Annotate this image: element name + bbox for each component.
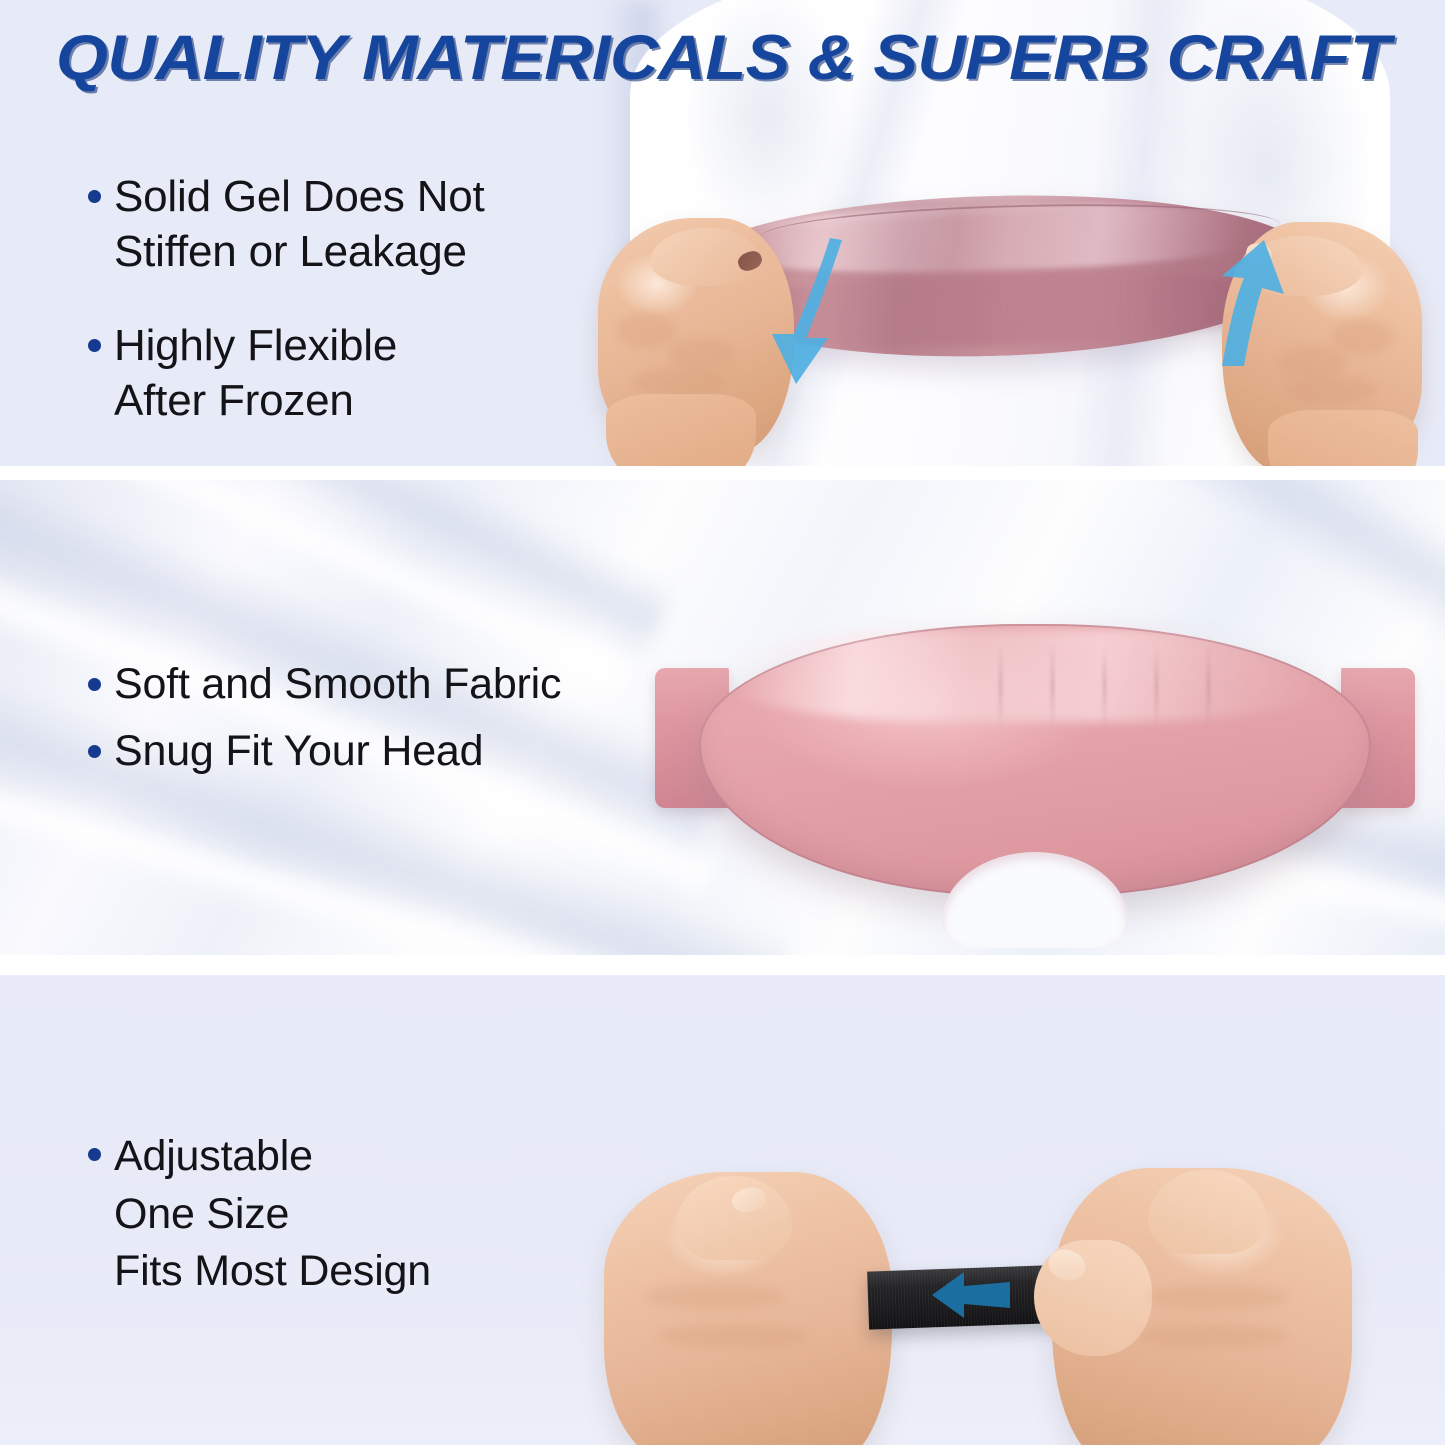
page-title: QUALITY MATERICALS & SUPERB CRAFT: [56, 22, 1445, 94]
bullet-dot-icon: [88, 1148, 101, 1161]
list-item: Snug Fit Your Head: [88, 725, 561, 778]
right-hand-holding-strap: [1052, 1168, 1352, 1445]
right-index-finger: [1148, 1170, 1266, 1254]
list-item: Solid Gel Does Not Stiffen or Leakage: [88, 170, 485, 279]
right-wrist: [1268, 410, 1418, 466]
hand-crease: [1138, 1324, 1288, 1348]
bullet-dot-icon: [88, 339, 101, 352]
bullet-dot-icon: [88, 678, 101, 691]
hand-crease: [644, 1284, 784, 1310]
panel-divider: [0, 955, 1445, 975]
bullet-list-fabric: Soft and Smooth Fabric Snug Fit Your Hea…: [88, 658, 561, 779]
list-item: Highly Flexible After Frozen: [88, 319, 485, 428]
hand-crease: [1148, 1284, 1288, 1310]
bullet-text: Snug Fit Your Head: [114, 725, 483, 778]
knuckle-crease: [634, 368, 726, 396]
bullet-text: Highly Flexible After Frozen: [114, 319, 397, 428]
bullet-list-gel: Solid Gel Does Not Stiffen or Leakage Hi…: [88, 170, 485, 428]
left-wrist: [606, 394, 756, 466]
bullet-text: Soft and Smooth Fabric: [114, 658, 561, 711]
panel-gel-flexibility: QUALITY MATERICALS & SUPERB CRAFT Solid …: [0, 0, 1445, 466]
product-infographic: QUALITY MATERICALS & SUPERB CRAFT Solid …: [0, 0, 1445, 1445]
sleep-mask-product-image: [655, 610, 1415, 910]
right-hand-gripping-mask: [1222, 222, 1422, 466]
bullet-text: Adjustable One Size Fits Most Design: [114, 1128, 431, 1301]
bullet-dot-icon: [88, 745, 101, 758]
left-hand-holding-strap: [604, 1172, 892, 1445]
knuckle-crease: [1332, 320, 1394, 354]
knuckle-crease: [1278, 346, 1346, 378]
hand-crease: [658, 1324, 808, 1348]
panel-divider: [0, 466, 1445, 480]
knuckle-crease: [668, 338, 734, 370]
bullet-text: Solid Gel Does Not Stiffen or Leakage: [114, 170, 485, 279]
bullet-list-adjustable: Adjustable One Size Fits Most Design: [88, 1128, 431, 1301]
bullet-dot-icon: [88, 190, 101, 203]
list-item: Adjustable One Size Fits Most Design: [88, 1128, 431, 1301]
left-hand-gripping-mask: [598, 218, 794, 453]
list-item: Soft and Smooth Fabric: [88, 658, 561, 711]
knuckle-crease: [1284, 376, 1376, 404]
knuckle-crease: [616, 314, 676, 348]
left-index-finger: [676, 1176, 792, 1260]
